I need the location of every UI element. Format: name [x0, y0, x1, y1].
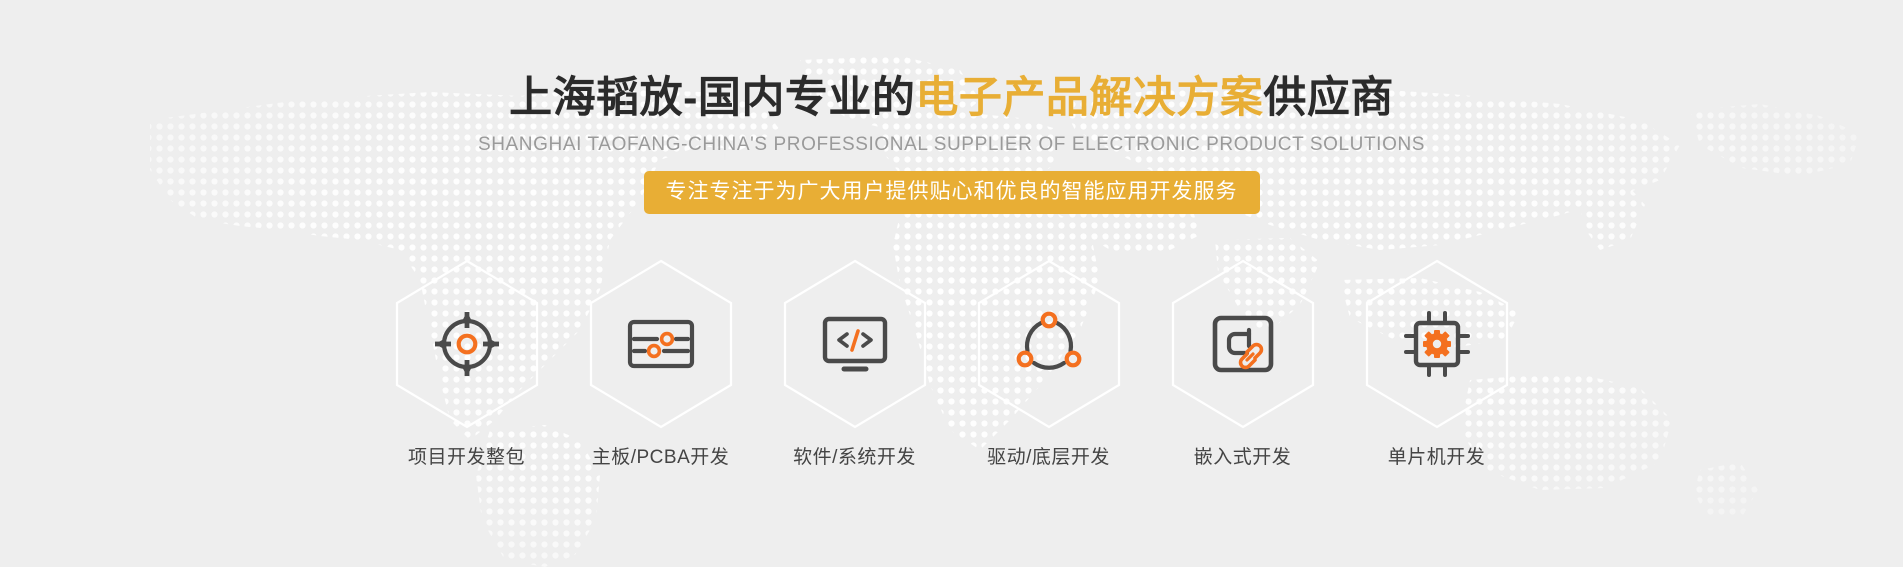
hexagon-frame	[392, 258, 542, 430]
microchip-gear-icon	[1399, 306, 1475, 382]
tagline-container: 专注专注于为广大用户提供贴心和优良的智能应用开发服务	[0, 171, 1903, 214]
service-label: 软件/系统开发	[793, 446, 916, 470]
service-label: 嵌入式开发	[1194, 446, 1292, 470]
embedded-link-icon	[1205, 306, 1281, 382]
hexagon-frame	[974, 258, 1124, 430]
service-item-software[interactable]: 软件/系统开发	[758, 258, 952, 470]
service-item-driver[interactable]: 驱动/底层开发	[952, 258, 1146, 470]
service-item-mcu[interactable]: 单片机开发	[1340, 258, 1534, 470]
hexagon-frame	[1168, 258, 1318, 430]
service-item-project-package[interactable]: 项目开发整包	[370, 258, 564, 470]
hexagon-frame	[586, 258, 736, 430]
service-label: 驱动/底层开发	[987, 446, 1110, 470]
page-subtitle: SHANGHAI TAOFANG-CHINA'S PROFESSIONAL SU…	[0, 133, 1903, 157]
crosshair-target-icon	[429, 306, 505, 382]
monitor-code-icon	[817, 306, 893, 382]
hexagon-frame	[1362, 258, 1512, 430]
pcb-board-icon	[623, 306, 699, 382]
headline-lead: 上海韬放-国内专业的	[509, 74, 915, 122]
hexagon-frame	[780, 258, 930, 430]
service-item-embedded[interactable]: 嵌入式开发	[1146, 258, 1340, 470]
service-label: 单片机开发	[1388, 446, 1486, 470]
service-item-pcba[interactable]: 主板/PCBA开发	[564, 258, 758, 470]
headline-tail: 供应商	[1263, 74, 1394, 122]
service-list: 项目开发整包	[0, 258, 1903, 470]
service-label: 项目开发整包	[408, 446, 525, 470]
hero-text-block: 上海韬放-国内专业的电子产品解决方案供应商 SHANGHAI TAOFANG-C…	[0, 72, 1903, 214]
headline-accent: 电子产品解决方案	[915, 74, 1263, 122]
page-title: 上海韬放-国内专业的电子产品解决方案供应商	[0, 72, 1903, 124]
service-label: 主板/PCBA开发	[592, 446, 730, 470]
tagline-badge: 专注专注于为广大用户提供贴心和优良的智能应用开发服务	[644, 171, 1260, 214]
hero-banner: 上海韬放-国内专业的电子产品解决方案供应商 SHANGHAI TAOFANG-C…	[0, 0, 1903, 567]
node-network-icon	[1011, 306, 1087, 382]
